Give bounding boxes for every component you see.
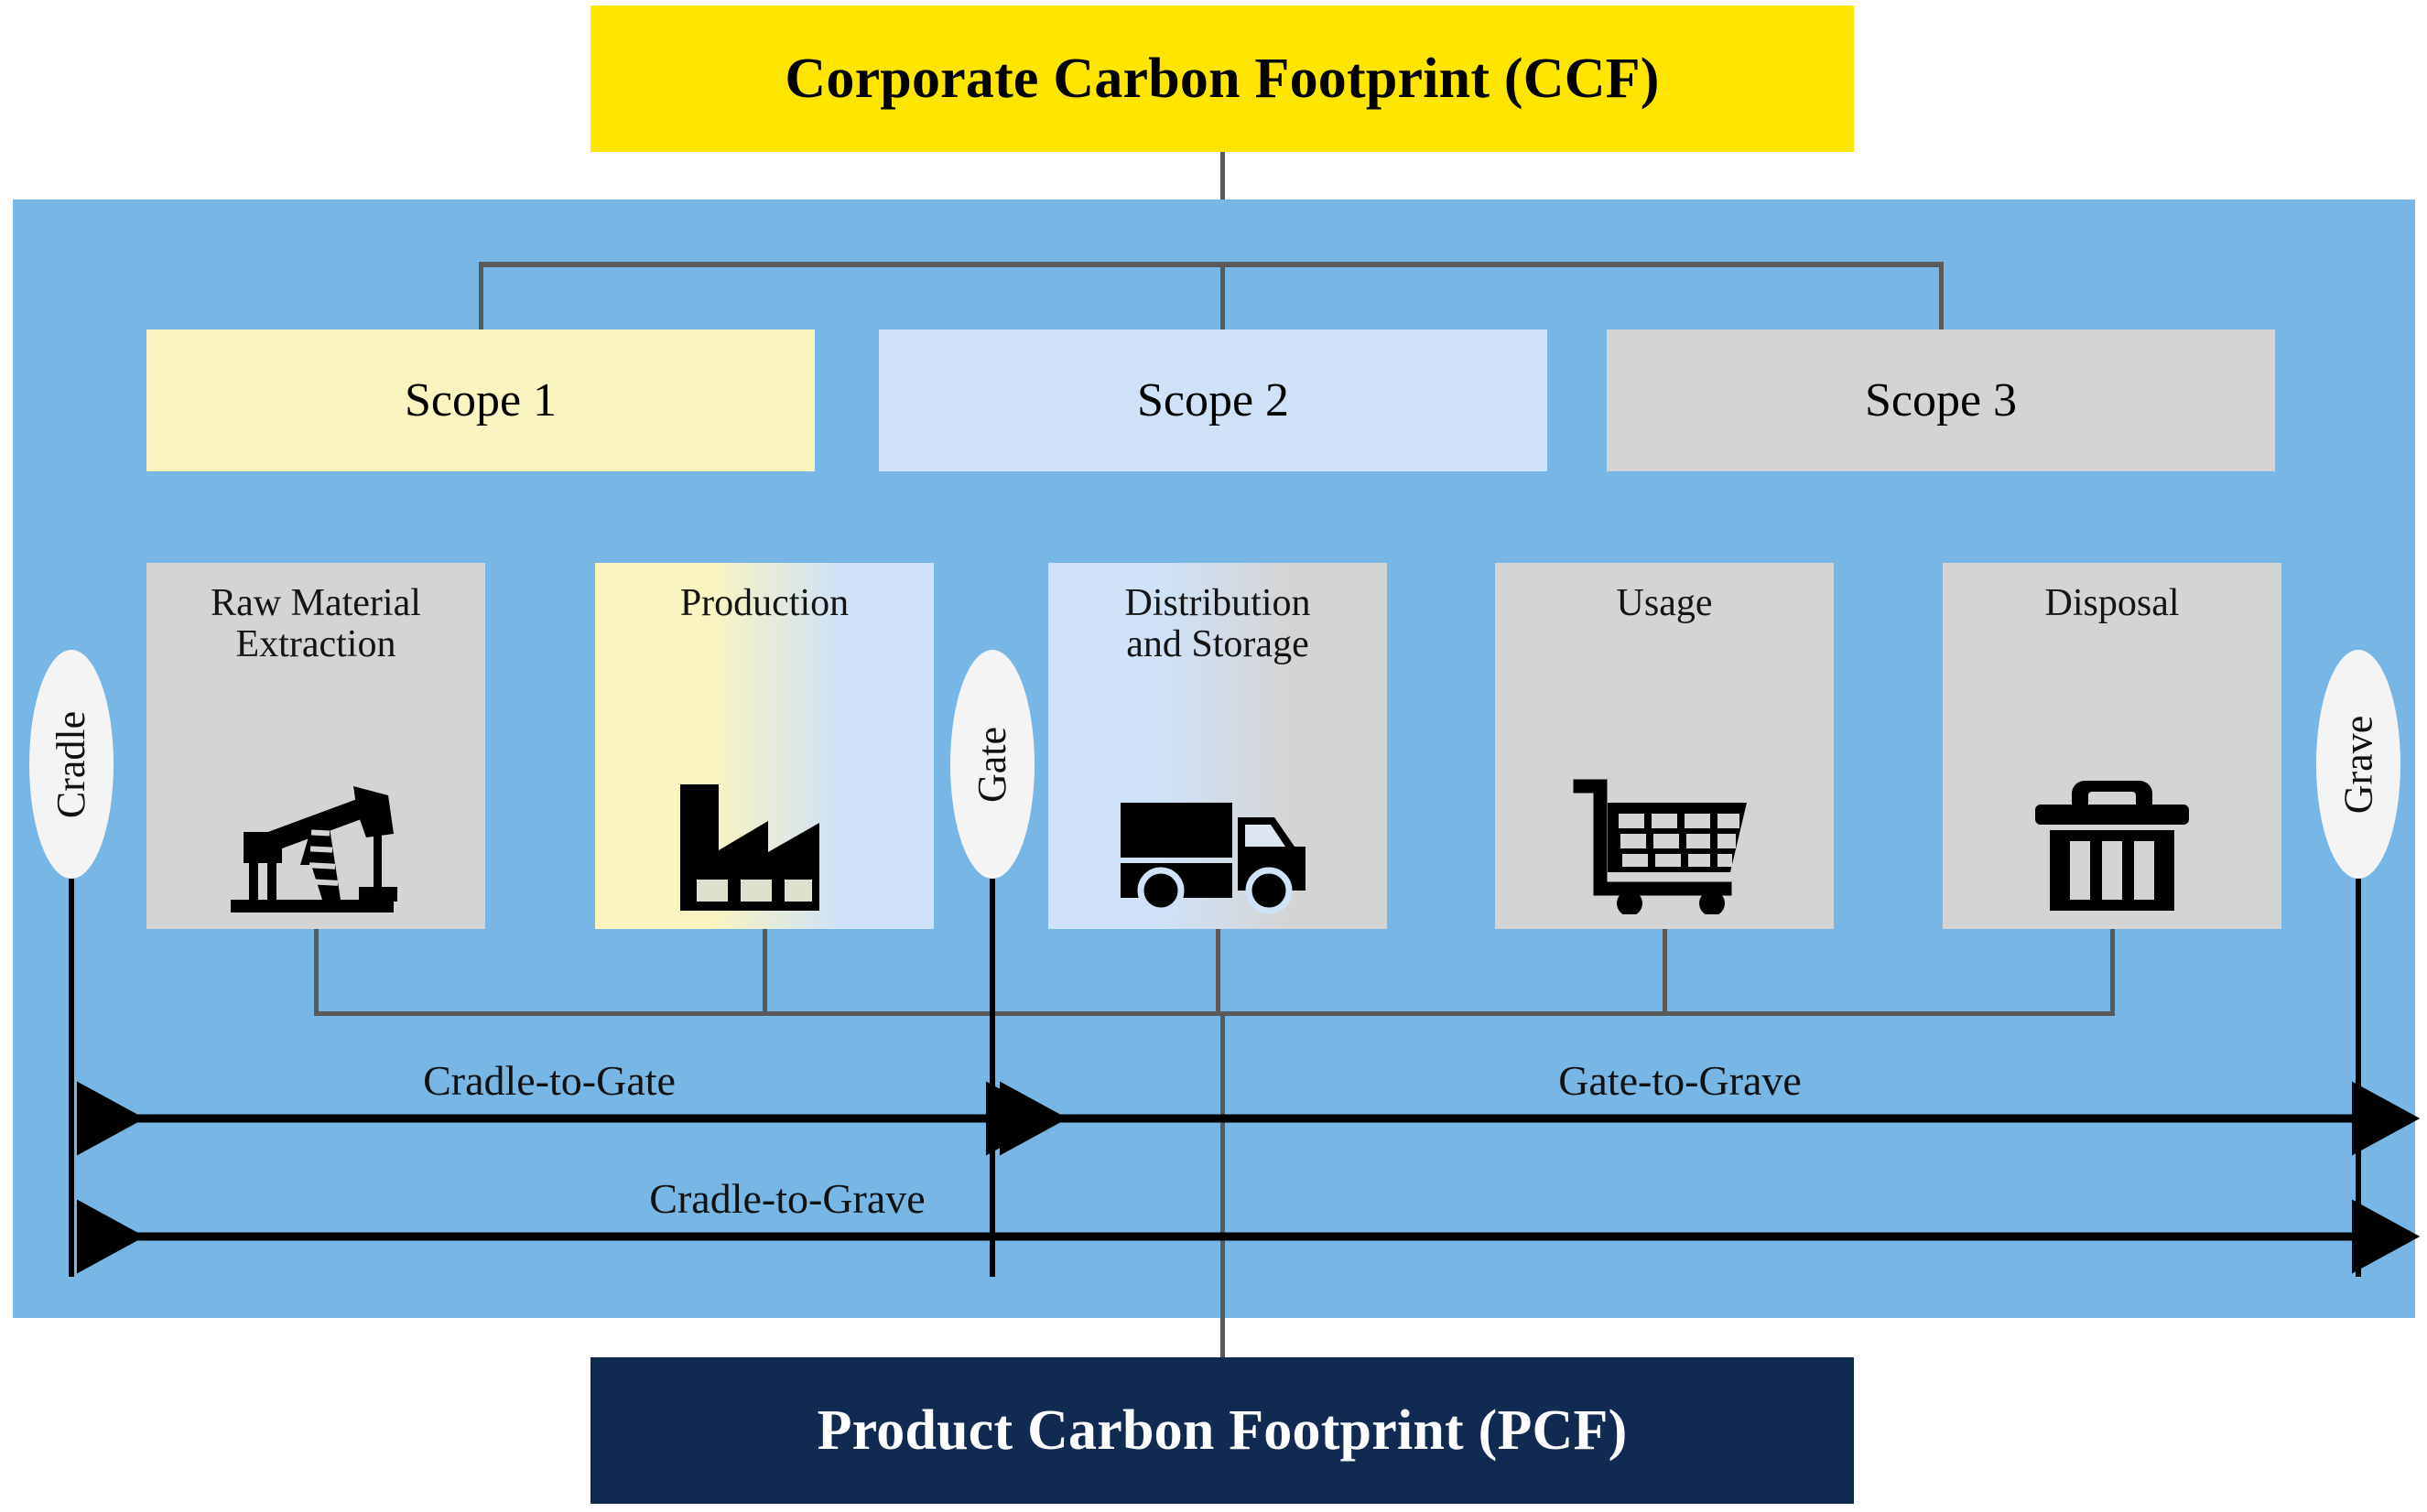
span-label-cradle-to-gate: Cradle-to-Gate [92,1056,1007,1105]
product-carbon-footprint-banner: Product Carbon Footprint (PCF) [590,1357,1854,1504]
span-arrows [0,0,2427,1512]
diagram-canvas: Corporate Carbon Footprint (CCF) Scope 1… [0,0,2427,1512]
span-label-gate-to-grave: Gate-to-Grave [1016,1056,2344,1105]
span-label-cradle-to-grave: Cradle-to-Grave [302,1174,1273,1223]
pcf-title: Product Carbon Footprint (PCF) [818,1399,1628,1463]
